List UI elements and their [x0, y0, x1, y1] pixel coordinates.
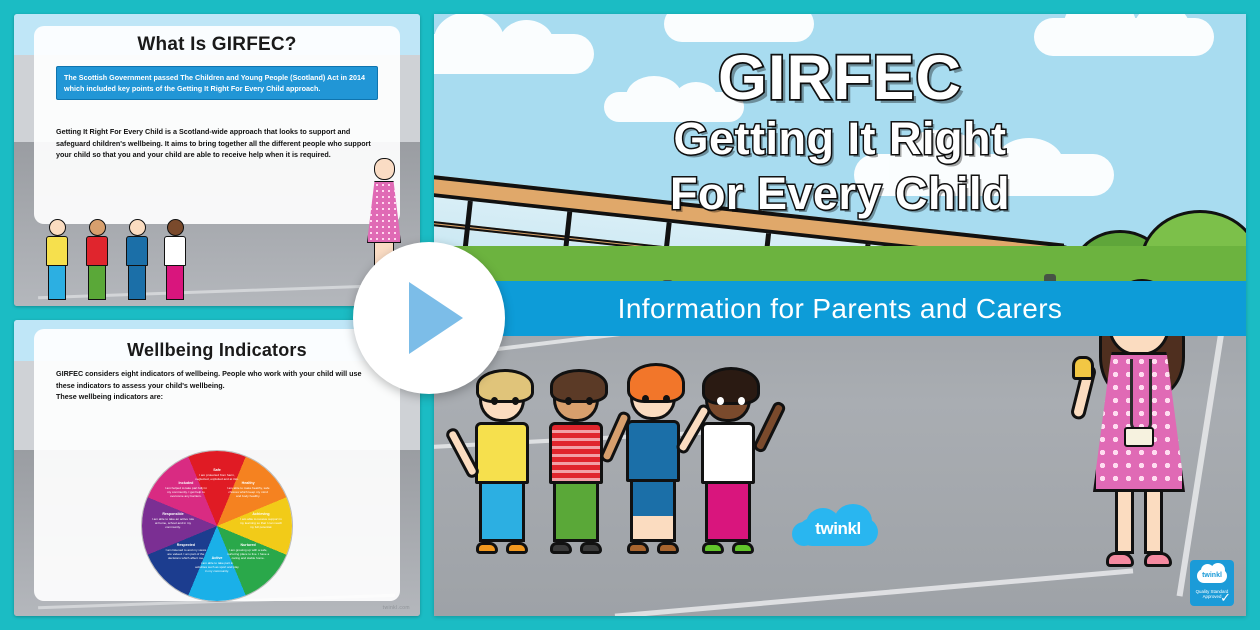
play-button[interactable]	[353, 242, 505, 394]
thumb2-watermark: twinkl.com	[383, 605, 410, 611]
thumb-body-text: Getting It Right For Every Child is a Sc…	[56, 126, 378, 161]
thumb2-body-lead: These wellbeing indicators are:	[56, 391, 378, 403]
quality-badge-logo: twinkl	[1190, 572, 1234, 579]
child-head	[553, 374, 599, 422]
thumb-child-4	[160, 219, 190, 300]
thumb2-body-text: GIRFEC considers eight indicators of wel…	[56, 368, 378, 403]
child-head	[705, 374, 751, 422]
hand-bell-icon	[1072, 356, 1094, 380]
cloud-icon	[604, 92, 744, 122]
cloud-icon	[1034, 18, 1214, 56]
child-head	[630, 372, 676, 420]
lanyard	[1130, 359, 1152, 433]
wellbeing-pie-chart: SafeI am protected from harm, neglected,…	[141, 450, 293, 602]
child-red-stripes	[536, 374, 616, 554]
child-pink-trousers	[688, 374, 768, 554]
thumb-children-group	[42, 180, 202, 300]
screenshot-stage: What Is GIRFEC? The Scottish Government …	[0, 0, 1260, 630]
thumb-child-2	[82, 219, 112, 300]
slide-thumbnail-wellbeing-indicators[interactable]: Wellbeing Indicators GIRFEC considers ei…	[14, 320, 420, 616]
cloud-icon	[664, 14, 814, 42]
thumb2-body-main: GIRFEC considers eight indicators of wel…	[56, 369, 362, 390]
pie-slices	[142, 451, 292, 601]
id-badge	[1124, 427, 1154, 447]
twinkl-watermark-text: twinkl	[792, 506, 884, 548]
slide-thumbnail-what-is-girfec[interactable]: What Is GIRFEC? The Scottish Government …	[14, 14, 420, 306]
children-group	[464, 304, 784, 554]
quality-badge: twinkl Quality Standard Approved ✓	[1190, 560, 1234, 606]
child-blue-dress	[614, 372, 692, 554]
court-line	[615, 568, 1133, 616]
twinkl-watermark: twinkl	[792, 506, 884, 548]
info-banner-text: Information for Parents and Carers	[618, 293, 1063, 325]
thumb-child-3	[122, 219, 152, 300]
child-yellow-shirt	[464, 374, 540, 554]
thumb-child-1	[42, 219, 72, 300]
checkmark-icon: ✓	[1220, 591, 1231, 604]
info-banner: Information for Parents and Carers	[434, 281, 1246, 336]
play-triangle-icon	[409, 282, 463, 354]
child-head	[479, 374, 525, 422]
cloud-icon	[434, 34, 594, 74]
main-slide-preview[interactable]: GIRFEC Getting It Right For Every Child …	[434, 14, 1246, 616]
thumb-callout-box: The Scottish Government passed The Child…	[56, 66, 378, 100]
thumb-title: What Is GIRFEC?	[14, 34, 420, 56]
